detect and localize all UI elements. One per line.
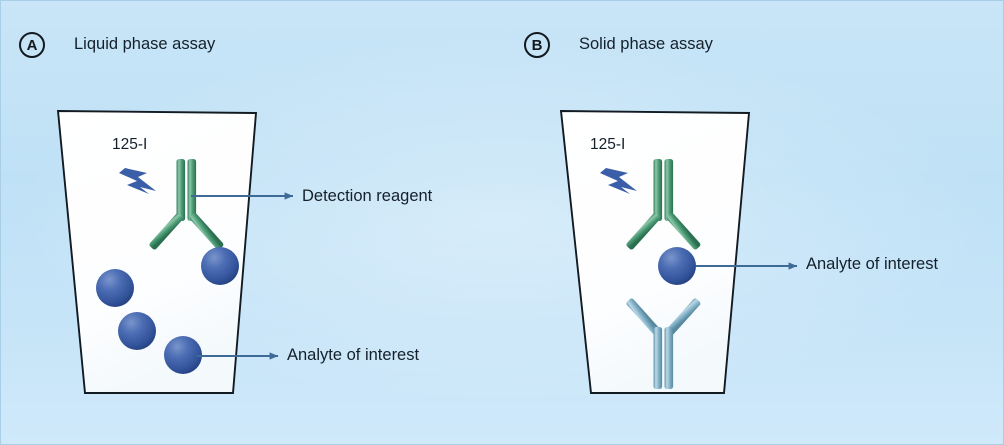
isotope-label-b: 125-I bbox=[590, 136, 625, 154]
analyte-sphere bbox=[164, 336, 202, 374]
analyte-sphere bbox=[96, 269, 134, 307]
analyte-sphere bbox=[201, 247, 239, 285]
panel-badge-b: B bbox=[524, 32, 550, 58]
analyte-sphere bbox=[118, 312, 156, 350]
assay-diagram-figure: A Liquid phase assay 125-I Detection rea… bbox=[0, 0, 1004, 445]
callout-label-detection-reagent: Detection reagent bbox=[302, 187, 432, 206]
panel-badge-a: A bbox=[19, 32, 45, 58]
panel-title-a: Liquid phase assay bbox=[74, 35, 215, 54]
isotope-label-a: 125-I bbox=[112, 136, 147, 154]
analyte-sphere bbox=[658, 247, 696, 285]
panel-a-group bbox=[58, 111, 293, 393]
callout-label-analyte-of-interest-b: Analyte of interest bbox=[806, 255, 938, 274]
diagram-vector-layer bbox=[1, 1, 1004, 445]
callout-label-analyte-of-interest-a: Analyte of interest bbox=[287, 346, 419, 365]
panel-title-b: Solid phase assay bbox=[579, 35, 713, 54]
